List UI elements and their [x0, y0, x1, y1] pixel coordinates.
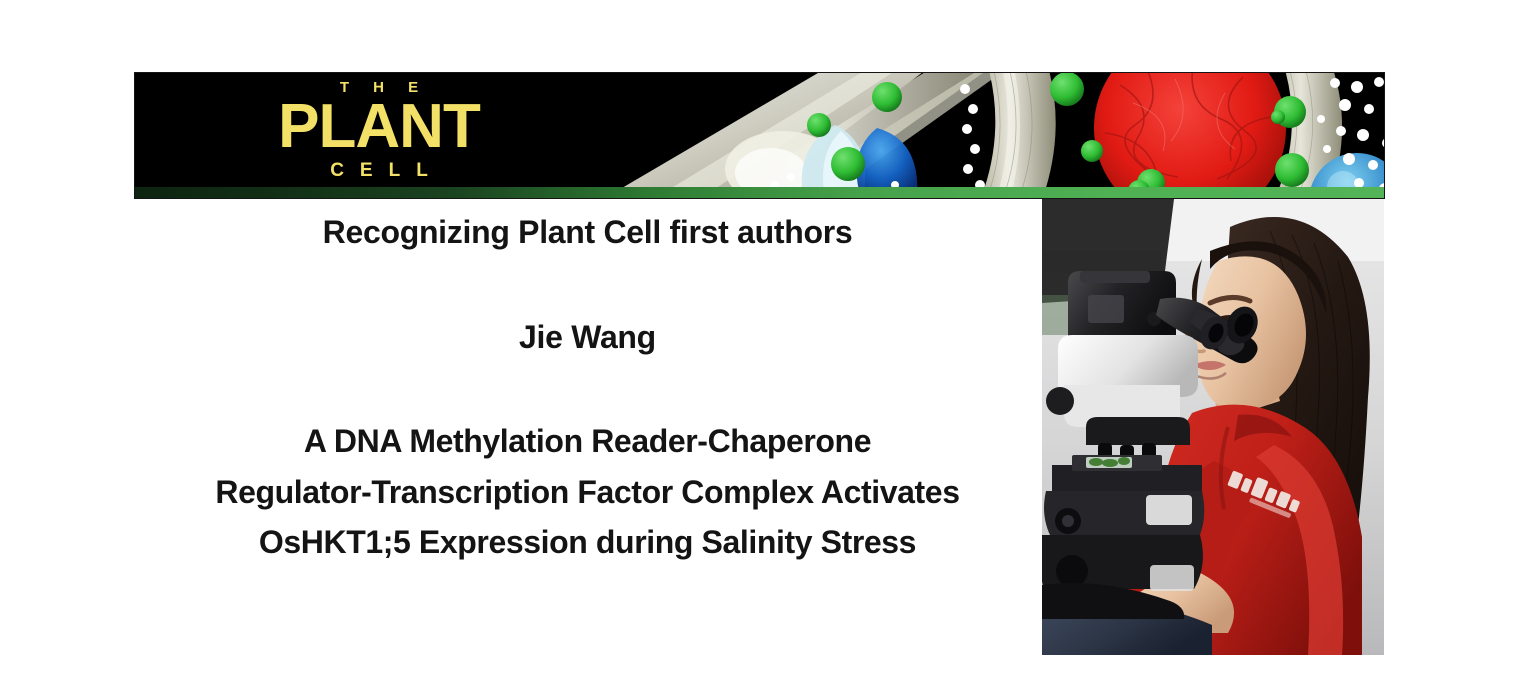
logo-line-cell: CELL — [269, 161, 489, 180]
article-title-line-2: Regulator-Transcription Factor Complex A… — [135, 467, 1040, 518]
author-photo — [1042, 199, 1384, 655]
banner-green-accent-strip — [135, 187, 1384, 198]
article-title-line-1: A DNA Methylation Reader-Chaperone — [135, 416, 1040, 467]
journal-masthead-banner: T H E PLANT CELL — [135, 73, 1384, 198]
article-title: A DNA Methylation Reader-Chaperone Regul… — [135, 416, 1040, 568]
author-name: Jie Wang — [135, 319, 1040, 356]
slide-text-column: Recognizing Plant Cell first authors Jie… — [135, 200, 1040, 568]
logo-line-plant: PLANT — [269, 97, 489, 158]
journal-logo: T H E PLANT CELL — [269, 80, 489, 180]
slide-heading: Recognizing Plant Cell first authors — [135, 214, 1040, 251]
article-title-line-3: OsHKT1;5 Expression during Salinity Stre… — [135, 517, 1040, 568]
